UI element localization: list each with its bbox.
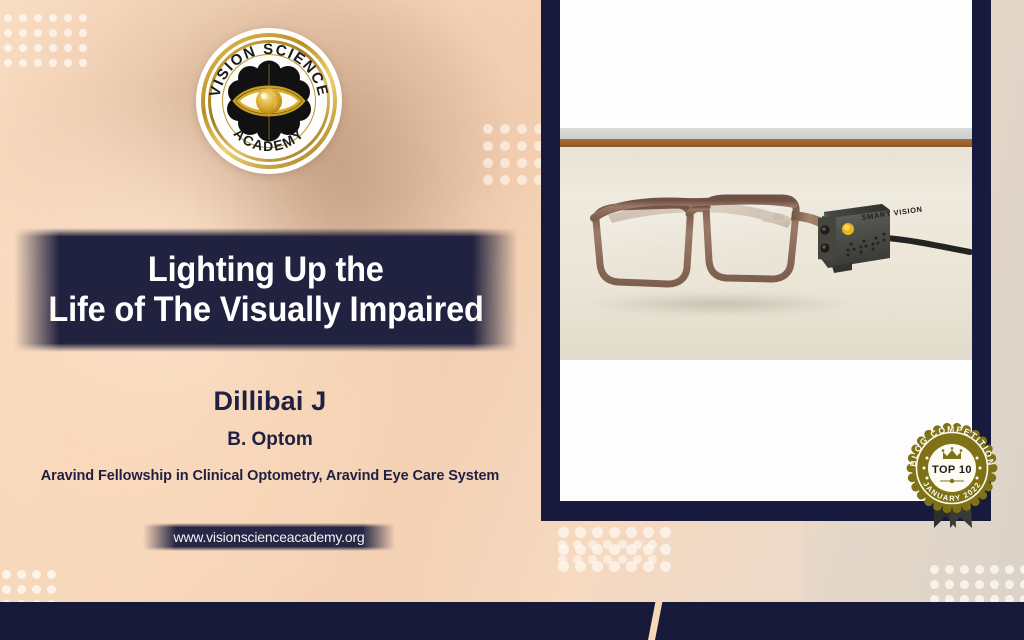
author-name: Dillibai J bbox=[0, 386, 540, 417]
author-degree: B. Optom bbox=[0, 429, 540, 451]
award-badge: BLOG COMPETITION JANUARY 2022 TOP 10 bbox=[898, 410, 1006, 532]
badge-center-text: TOP 10 bbox=[932, 464, 972, 476]
author-block: Dillibai J B. Optom Aravind Fellowship i… bbox=[0, 386, 540, 484]
title-line-2: Life of The Visually Impaired bbox=[48, 290, 483, 330]
website-url-text: www.visionscienceacademy.org bbox=[173, 529, 364, 545]
title-banner: Lighting Up the Life of The Visually Imp… bbox=[14, 228, 518, 352]
vision-science-academy-logo: VISION SCIENCE ACADEMY bbox=[196, 28, 342, 174]
footer-bar bbox=[0, 602, 1024, 640]
title-line-1: Lighting Up the bbox=[148, 250, 384, 290]
smart-vision-glasses-photo: SMART VISION bbox=[560, 128, 972, 360]
footer-accent-slash bbox=[648, 602, 662, 640]
author-affiliation: Aravind Fellowship in Clinical Optometry… bbox=[0, 468, 540, 484]
website-url-pill[interactable]: www.visionscienceacademy.org bbox=[143, 523, 395, 551]
glasses-illustration: SMART VISION bbox=[560, 128, 972, 360]
dot-grid-below-card bbox=[558, 527, 677, 578]
presentation-slide: SMART VISION bbox=[0, 0, 1024, 640]
dot-grid-top-left bbox=[4, 14, 94, 74]
brain-eye-emblem-icon bbox=[226, 60, 312, 142]
